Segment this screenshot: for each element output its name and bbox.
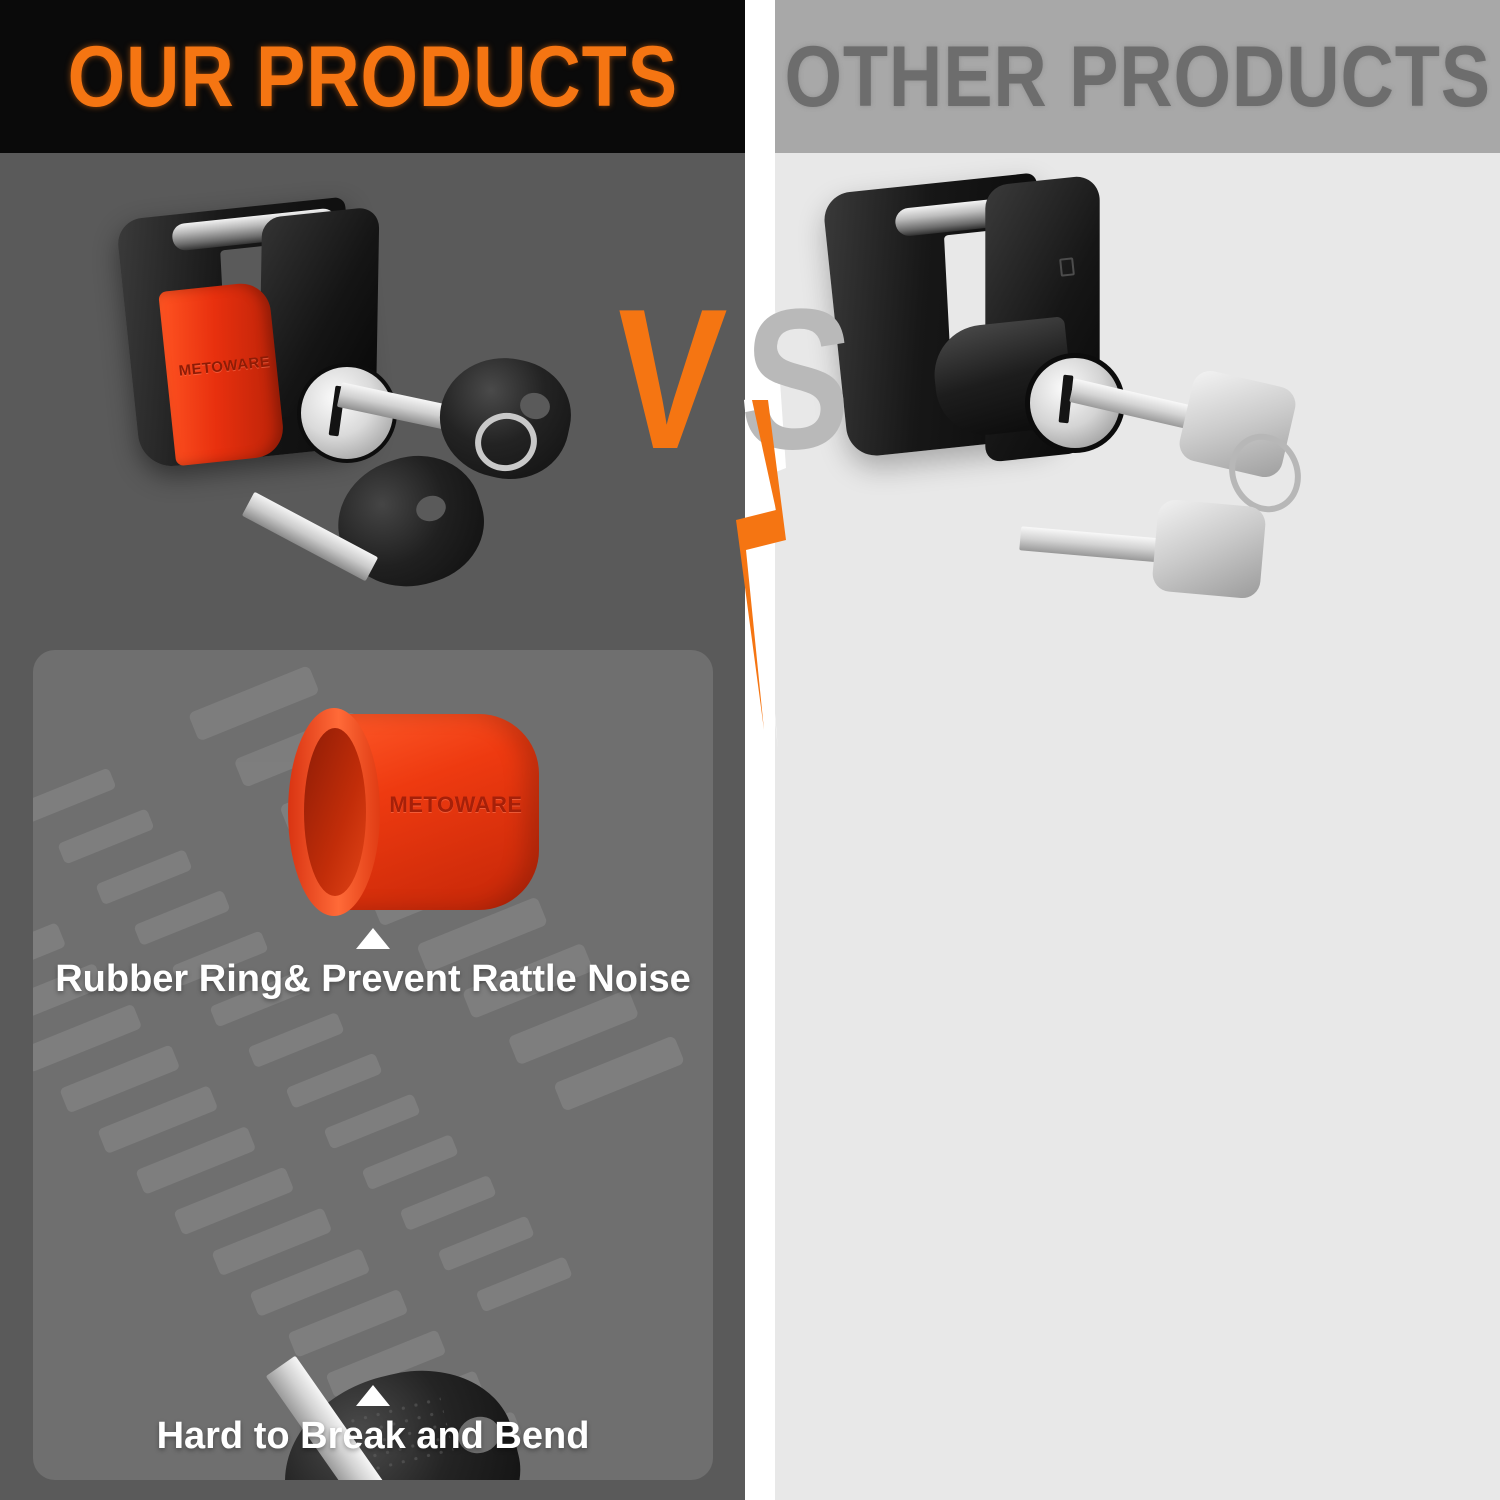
our-products-title: OUR PRODUCTS xyxy=(67,34,677,120)
key-head-secondary-shape xyxy=(1151,498,1267,599)
up-arrow-icon xyxy=(356,1385,390,1406)
key-blade-secondary-shape xyxy=(1019,526,1176,563)
other-products-title: OTHER PRODUCTS xyxy=(784,34,1490,120)
orange-lightning-accent-icon xyxy=(690,400,810,730)
other-products-panel: OTHER PRODUCTS xyxy=(775,0,1500,1500)
rubber-ring-brand-emboss: METOWARE xyxy=(380,792,532,818)
other-products-header: OTHER PRODUCTS xyxy=(775,0,1500,153)
our-feature-1-caption: Rubber Ring& Prevent Rattle Noise xyxy=(33,959,713,1001)
comparison-infographic: OUR PRODUCTS METOWARE xyxy=(0,0,1500,1500)
other-coupler-lock-icon xyxy=(835,163,1305,648)
our-feature-2-caption: Hard to Break and Bend xyxy=(33,1416,713,1458)
rubber-ring-bore-shape xyxy=(304,728,366,896)
lock-notch-mark xyxy=(1059,257,1075,276)
panel-divider xyxy=(745,0,775,1500)
our-coupler-lock-icon: METOWARE xyxy=(120,168,540,648)
our-products-panel: OUR PRODUCTS METOWARE xyxy=(0,0,745,1500)
up-arrow-icon xyxy=(356,928,390,949)
our-products-header: OUR PRODUCTS xyxy=(0,0,745,153)
red-rubber-ring-image: METOWARE xyxy=(280,702,548,922)
our-features-card: METOWARE Rubber Ring& Prevent Rattle Noi… xyxy=(33,650,713,1480)
